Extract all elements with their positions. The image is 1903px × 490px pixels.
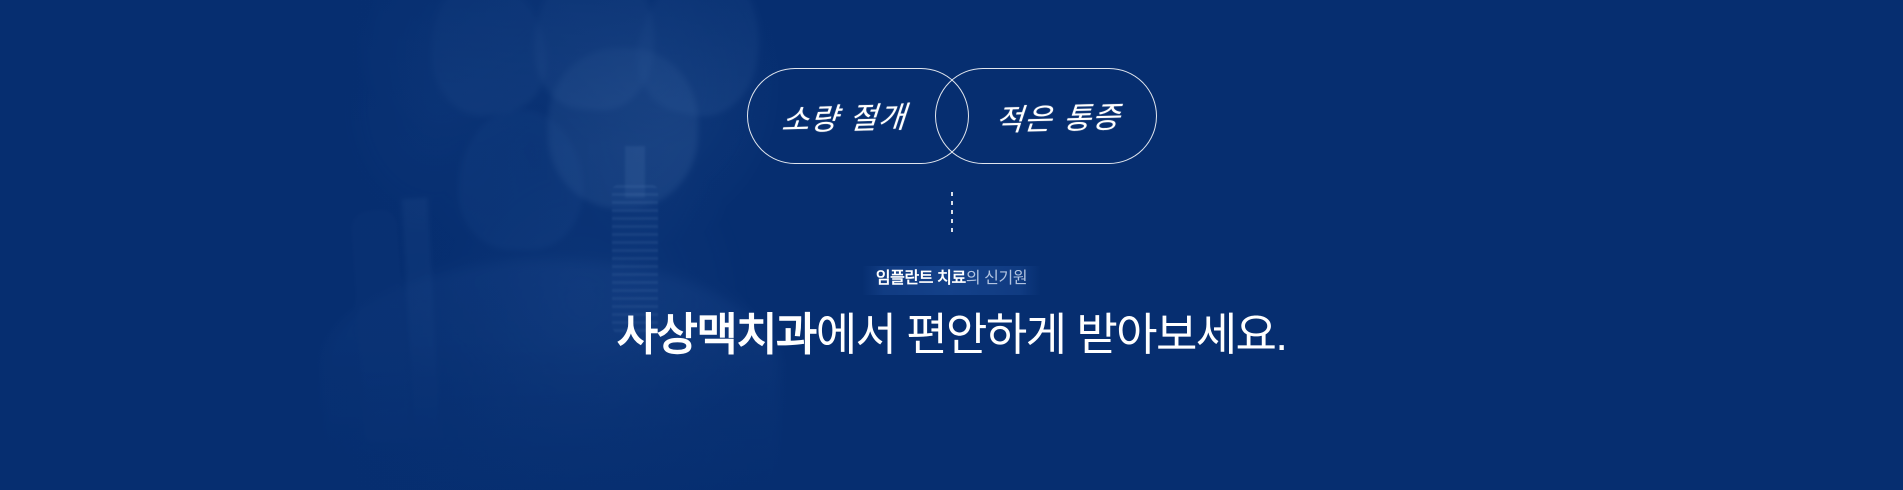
- eyebrow-light-text: 의 신기원: [966, 270, 1027, 287]
- implant-hero-banner: 소량 절개 적은 통증 임플란트 치료의 신기원 사상맥치과에서 편안하게 받아…: [0, 0, 1903, 490]
- pill-badge-less-pain-label: 적은 통증: [994, 92, 1123, 139]
- headline-clinic-name: 사상맥치과: [617, 309, 816, 360]
- eyebrow-strong-text: 임플란트 치료: [876, 270, 966, 287]
- pill-badge-group: 소량 절개 적은 통증: [747, 68, 1157, 164]
- headline-rest: 에서 편안하게 받아보세요.: [816, 309, 1287, 360]
- pill-badge-small-incision-label: 소량 절개: [780, 92, 909, 139]
- pill-badge-less-pain: 적은 통증: [935, 68, 1157, 164]
- eyebrow-badge: 임플란트 치료의 신기원: [862, 266, 1041, 295]
- dotted-divider: [951, 192, 953, 234]
- page-title: 사상맥치과에서 편안하게 받아보세요.: [617, 307, 1287, 363]
- banner-content: 소량 절개 적은 통증 임플란트 치료의 신기원 사상맥치과에서 편안하게 받아…: [0, 0, 1903, 490]
